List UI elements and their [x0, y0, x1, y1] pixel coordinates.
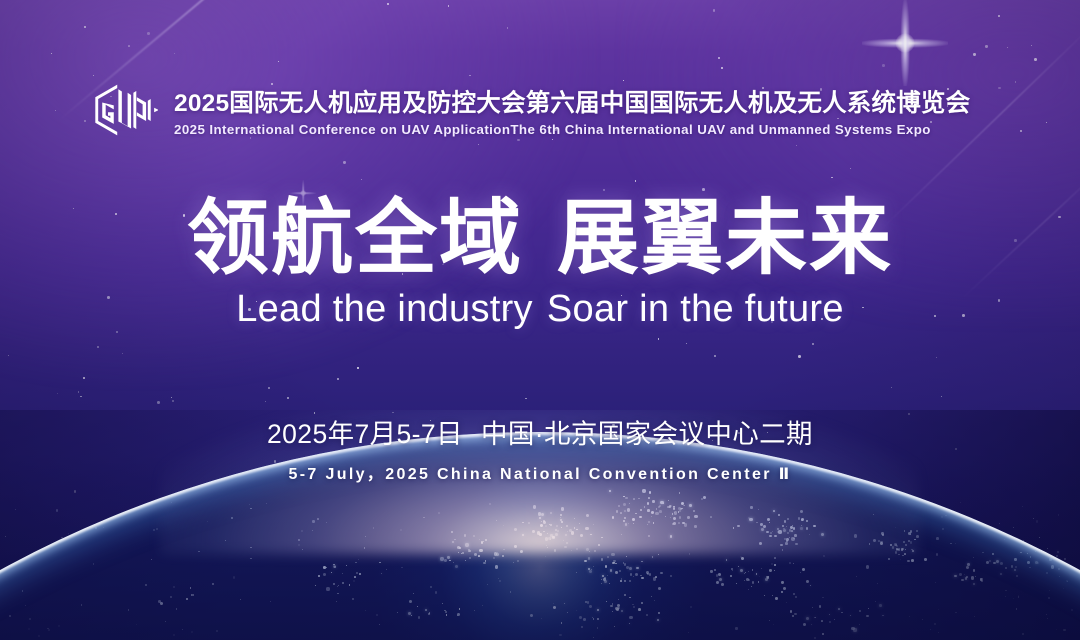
- headline-cn-part2: 展翼未来: [557, 193, 893, 284]
- conference-poster: 2025国际无人机应用及防控大会第六届中国国际无人机及无人系统博览会 2025 …: [0, 0, 1080, 640]
- event-info-block: 2025年7月5-7日中国·北京国家会议中心二期 5-7 July，2025 C…: [0, 412, 1080, 484]
- headline-en-part1: Lead the industry: [236, 288, 533, 330]
- conference-title-cn: 2025国际无人机应用及防控大会第六届中国国际无人机及无人系统博览会: [174, 84, 970, 119]
- event-info-en: 5-7 July，2025 China National Convention …: [0, 460, 1080, 484]
- header-text-group: 2025国际无人机应用及防控大会第六届中国国际无人机及无人系统博览会 2025 …: [174, 84, 970, 137]
- headline-en: Lead the industrySoar in the future: [0, 288, 1080, 331]
- headline-block: 领航全域展翼未来 Lead the industrySoar in the fu…: [0, 196, 1080, 331]
- headline-cn-part1: 领航全域: [187, 193, 523, 284]
- guc-hexagon-logo-icon: [88, 80, 158, 140]
- conference-title-en: 2025 International Conference on UAV App…: [174, 122, 970, 137]
- event-venue-cn: 中国·北京国家会议中心二期: [481, 419, 813, 449]
- event-info-cn: 2025年7月5-7日中国·北京国家会议中心二期: [0, 412, 1080, 451]
- poster-header: 2025国际无人机应用及防控大会第六届中国国际无人机及无人系统博览会 2025 …: [88, 80, 970, 140]
- headline-cn: 领航全域展翼未来: [0, 196, 1080, 282]
- headline-en-part2: Soar in the future: [547, 288, 844, 330]
- event-date-cn: 2025年7月5-7日: [267, 419, 463, 449]
